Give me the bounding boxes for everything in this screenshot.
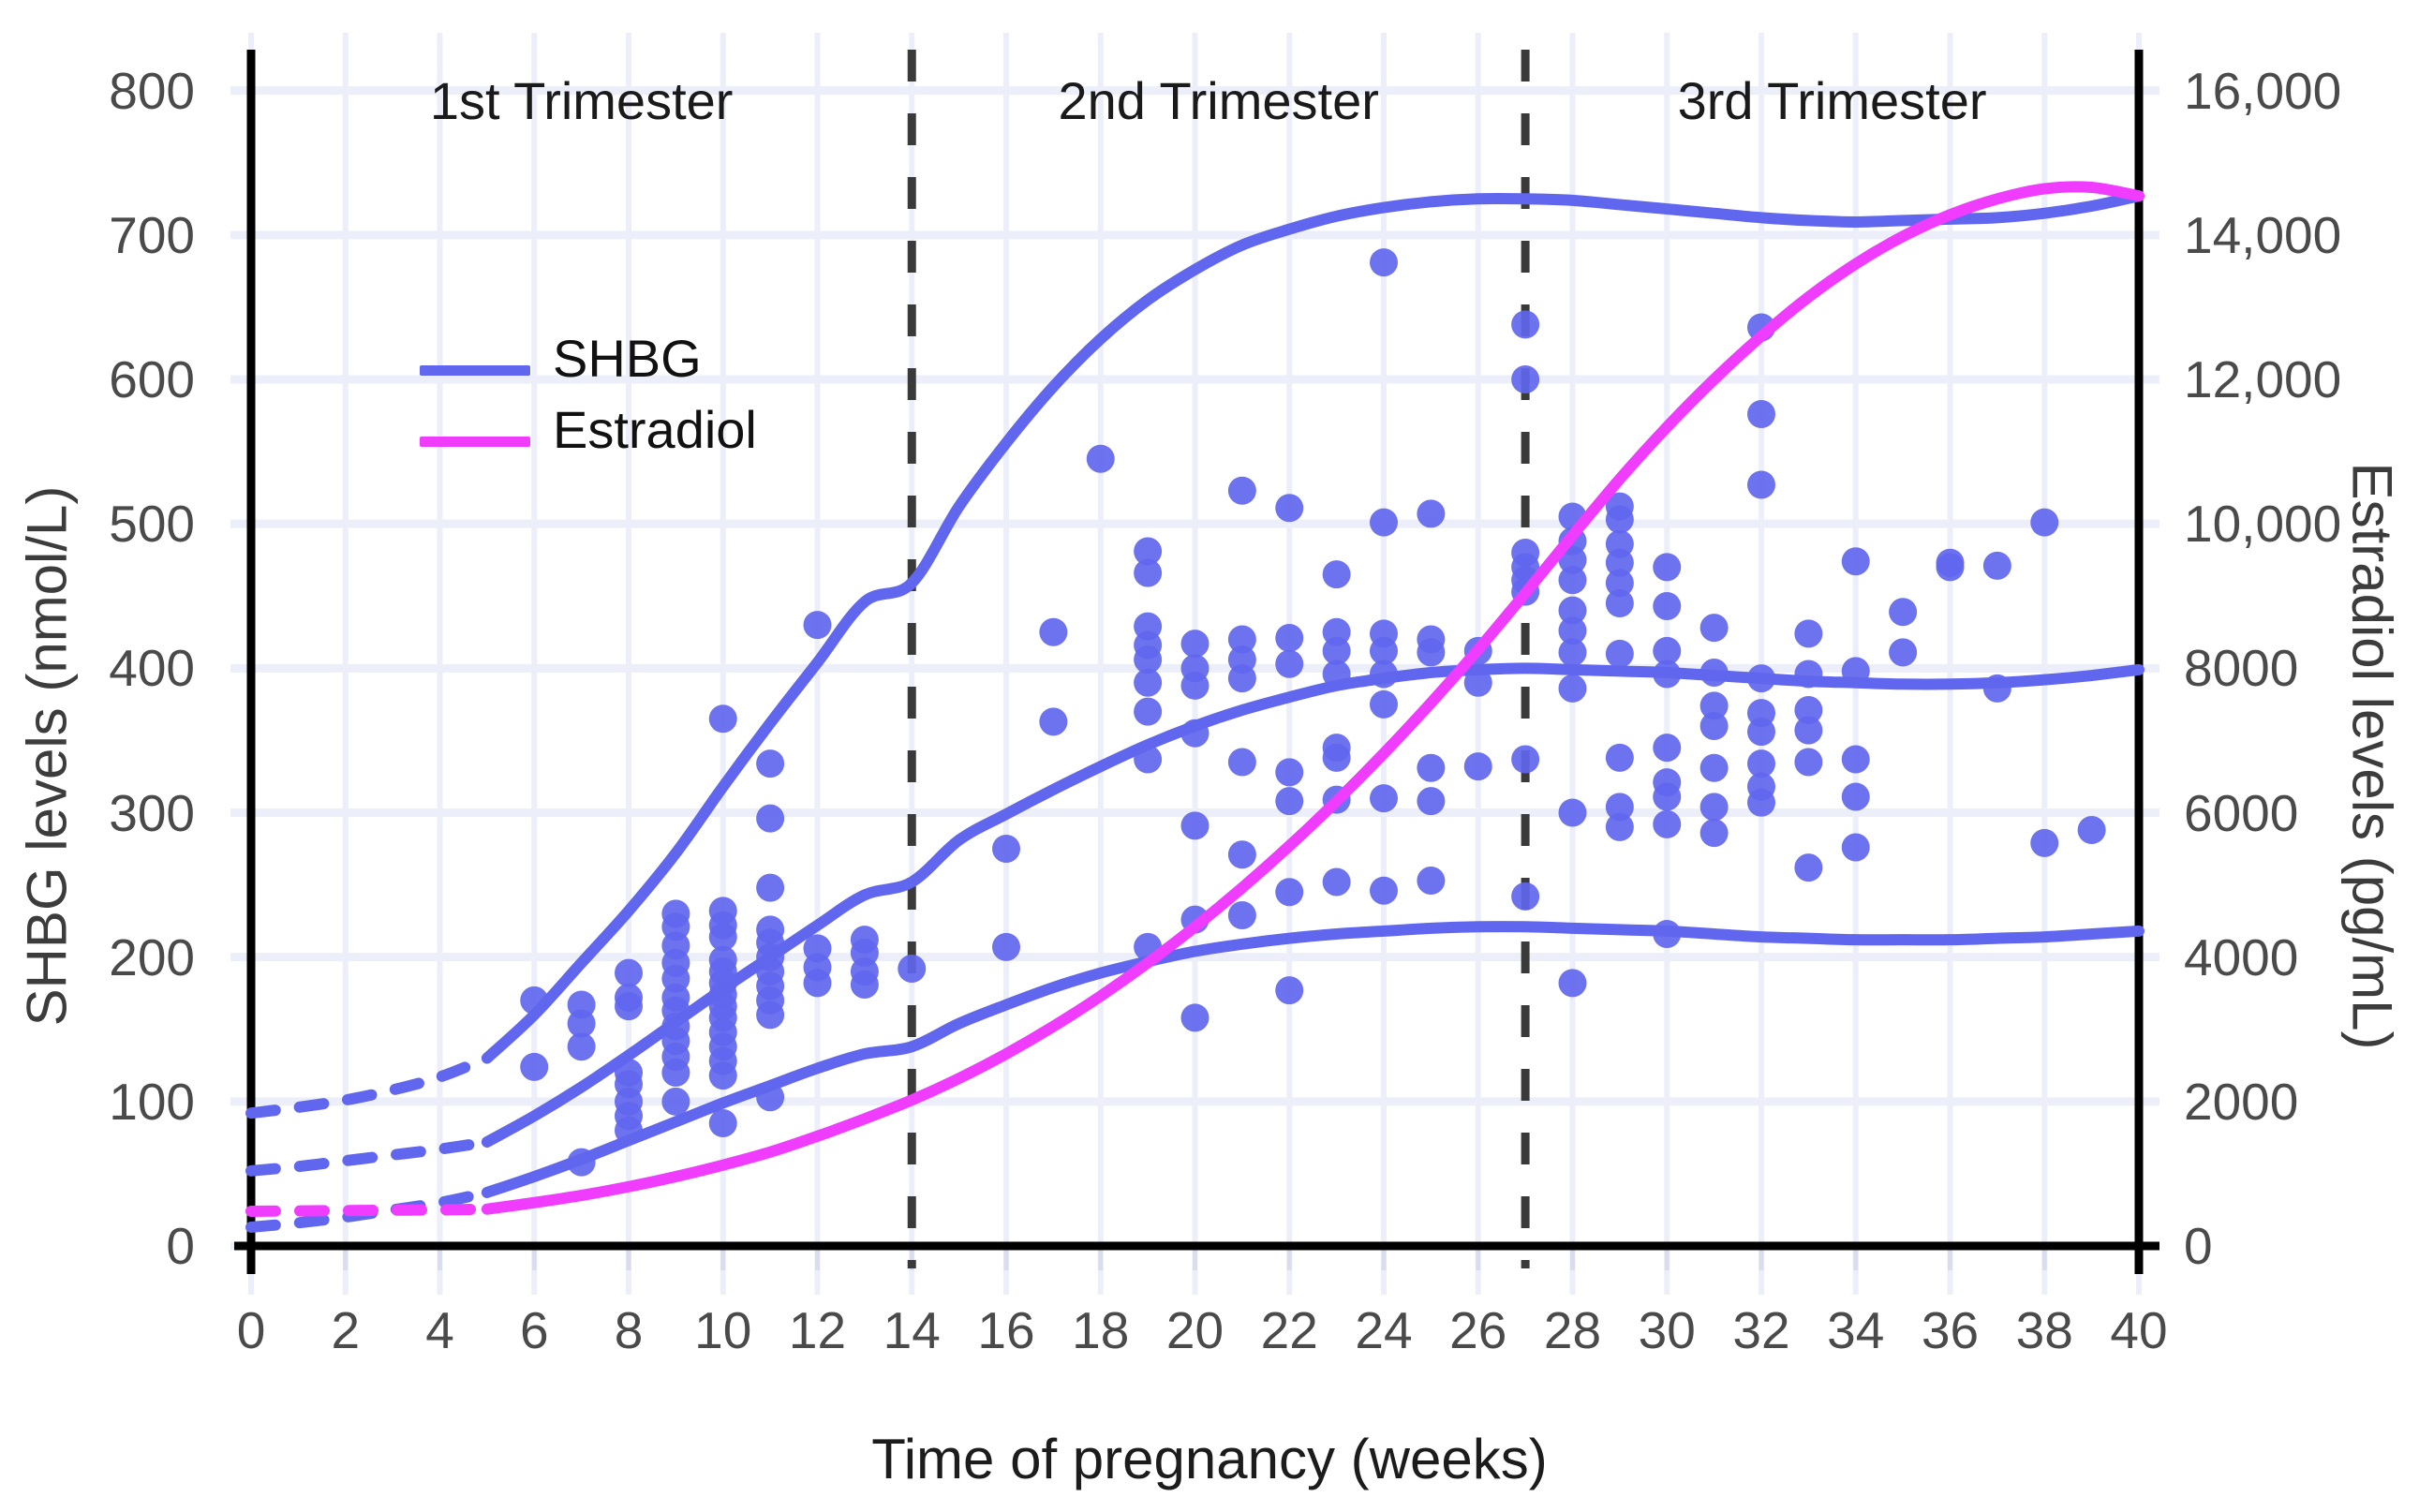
x-tick-34: 34 <box>1827 1300 1884 1360</box>
x-tick-4: 4 <box>425 1300 454 1360</box>
y-tick-left-800: 800 <box>0 61 195 121</box>
x-tick-18: 18 <box>1072 1300 1129 1360</box>
x-tick-0: 0 <box>237 1300 266 1360</box>
x-tick-2: 2 <box>331 1300 360 1360</box>
x-tick-16: 16 <box>977 1300 1034 1360</box>
x-tick-6: 6 <box>520 1300 549 1360</box>
x-tick-30: 30 <box>1639 1300 1696 1360</box>
y-tick-right-6000: 6000 <box>2184 783 2298 843</box>
y-tick-left-500: 500 <box>0 494 195 554</box>
x-axis-title: Time of pregnancy (weeks) <box>0 1427 2419 1491</box>
y-tick-left-400: 400 <box>0 638 195 698</box>
x-tick-40: 40 <box>2110 1300 2167 1360</box>
chart-canvas <box>0 0 2419 1512</box>
trimester-label-2: 2nd Trimester <box>1059 70 1379 131</box>
y-tick-right-10,000: 10,000 <box>2184 494 2341 554</box>
y-tick-right-12,000: 12,000 <box>2184 349 2341 409</box>
x-tick-20: 20 <box>1166 1300 1224 1360</box>
x-tick-28: 28 <box>1544 1300 1601 1360</box>
y-tick-left-700: 700 <box>0 205 195 265</box>
x-tick-10: 10 <box>694 1300 751 1360</box>
y-tick-right-2000: 2000 <box>2184 1072 2298 1132</box>
scatter-points <box>520 248 2105 1176</box>
x-tick-36: 36 <box>1922 1300 1979 1360</box>
x-tick-32: 32 <box>1732 1300 1789 1360</box>
y-tick-left-600: 600 <box>0 349 195 409</box>
x-tick-26: 26 <box>1449 1300 1506 1360</box>
x-tick-38: 38 <box>2016 1300 2073 1360</box>
legend-label-shbg: SHBG <box>553 328 702 389</box>
y-axis-right-title: Estradiol levels (pg/mL) <box>2340 400 2405 1112</box>
y-tick-right-14,000: 14,000 <box>2184 205 2341 265</box>
legend-label-estradiol: Estradiol <box>553 399 757 460</box>
y-tick-left-100: 100 <box>0 1072 195 1132</box>
y-tick-left-300: 300 <box>0 783 195 843</box>
trimester-label-3: 3rd Trimester <box>1678 70 1987 131</box>
trimester-label-1: 1st Trimester <box>430 70 734 131</box>
x-tick-24: 24 <box>1355 1300 1412 1360</box>
x-tick-12: 12 <box>789 1300 846 1360</box>
y-tick-left-0: 0 <box>0 1216 195 1276</box>
x-tick-22: 22 <box>1261 1300 1318 1360</box>
y-tick-right-4000: 4000 <box>2184 927 2298 987</box>
y-tick-right-8000: 8000 <box>2184 638 2298 698</box>
y-tick-left-200: 200 <box>0 927 195 987</box>
y-tick-right-16,000: 16,000 <box>2184 61 2341 121</box>
x-tick-8: 8 <box>615 1300 644 1360</box>
legend-swatch-estradiol <box>420 437 530 447</box>
legend-swatch-shbg <box>420 365 530 376</box>
x-tick-14: 14 <box>883 1300 941 1360</box>
chart-figure: SHBG levels (nmol/L) Estradiol levels (p… <box>0 0 2419 1512</box>
y-tick-right-0: 0 <box>2184 1216 2213 1276</box>
